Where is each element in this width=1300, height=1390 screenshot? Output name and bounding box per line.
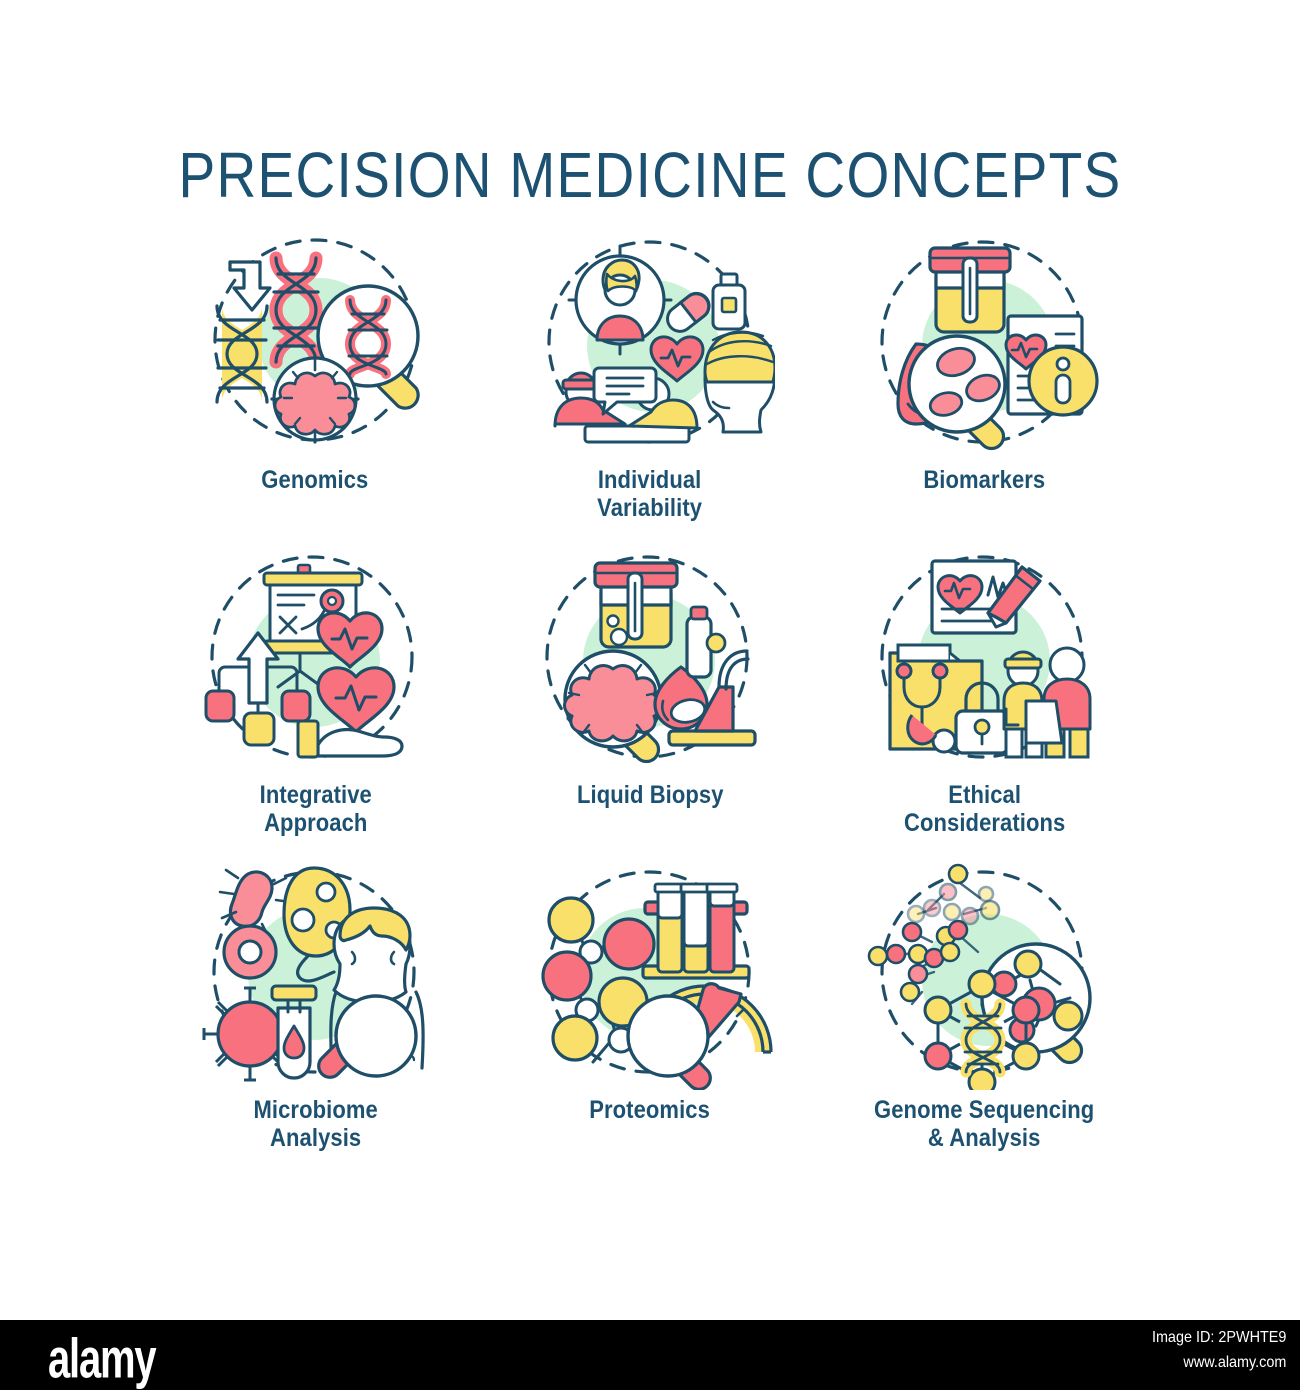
label-line: Considerations xyxy=(904,809,1065,837)
concept-card-ethical-considerations[interactable]: Ethical Considerations xyxy=(817,543,1152,858)
concept-label: Genomics xyxy=(262,466,369,494)
concept-label: Biomarkers xyxy=(924,466,1046,494)
concept-label: Proteomics xyxy=(590,1096,711,1124)
label-line: Ethical xyxy=(904,781,1065,809)
concept-card-genome-sequencing[interactable]: Genome Sequencing & Analysis xyxy=(817,858,1152,1173)
label-line: Individual xyxy=(598,466,703,494)
microbiome-analysis-icon xyxy=(190,858,440,1090)
integrative-approach-icon xyxy=(190,543,440,775)
concept-card-biomarkers[interactable]: Biomarkers xyxy=(817,228,1152,543)
alamy-logo: alamy xyxy=(48,1326,155,1390)
label-line: Microbiome xyxy=(253,1096,377,1124)
liquid-biopsy-icon xyxy=(525,543,775,775)
ethical-considerations-icon xyxy=(860,543,1110,775)
website-url[interactable]: www.alamy.com xyxy=(1152,1351,1286,1376)
concept-card-genomics[interactable]: Genomics xyxy=(148,228,483,543)
concept-card-individual-variability[interactable]: Individual Variability xyxy=(483,228,818,543)
footer-meta: Image ID: 2PWHTE9 www.alamy.com xyxy=(1152,1326,1286,1376)
label-line: Analysis xyxy=(253,1124,377,1152)
concept-card-integrative-approach[interactable]: Integrative Approach xyxy=(148,543,483,858)
label-line: Approach xyxy=(259,809,371,837)
concept-label: Individual Variability xyxy=(598,466,703,522)
biomarkers-icon xyxy=(860,228,1110,460)
concept-label: Liquid Biopsy xyxy=(577,781,724,809)
individual-variability-icon xyxy=(525,228,775,460)
genomics-icon xyxy=(190,228,440,460)
page-title: PRECISION MEDICINE CONCEPTS xyxy=(91,138,1209,212)
footer-bar: alamy Image ID: 2PWHTE9 www.alamy.com xyxy=(0,1320,1300,1390)
page-root: PRECISION MEDICINE CONCEPTS xyxy=(0,0,1300,1390)
concept-grid: Genomics xyxy=(148,228,1152,1173)
image-id: Image ID: 2PWHTE9 xyxy=(1152,1326,1286,1351)
label-line: Variability xyxy=(598,494,703,522)
label-line: Genome Sequencing xyxy=(874,1096,1094,1124)
concept-label: Genome Sequencing & Analysis xyxy=(874,1096,1094,1152)
concept-label: Ethical Considerations xyxy=(904,781,1065,837)
label-line: Liquid Biopsy xyxy=(577,781,724,809)
concept-card-proteomics[interactable]: Proteomics xyxy=(483,858,818,1173)
concept-label: Microbiome Analysis xyxy=(253,1096,377,1152)
proteomics-icon xyxy=(525,858,775,1090)
label-line: Genomics xyxy=(262,466,369,494)
label-line: Biomarkers xyxy=(924,466,1046,494)
concept-card-microbiome-analysis[interactable]: Microbiome Analysis xyxy=(148,858,483,1173)
concept-card-liquid-biopsy[interactable]: Liquid Biopsy xyxy=(483,543,818,858)
label-line: & Analysis xyxy=(874,1124,1094,1152)
genome-sequencing-icon xyxy=(860,858,1110,1090)
label-line: Integrative xyxy=(259,781,371,809)
label-line: Proteomics xyxy=(590,1096,711,1124)
concept-label: Integrative Approach xyxy=(259,781,371,837)
